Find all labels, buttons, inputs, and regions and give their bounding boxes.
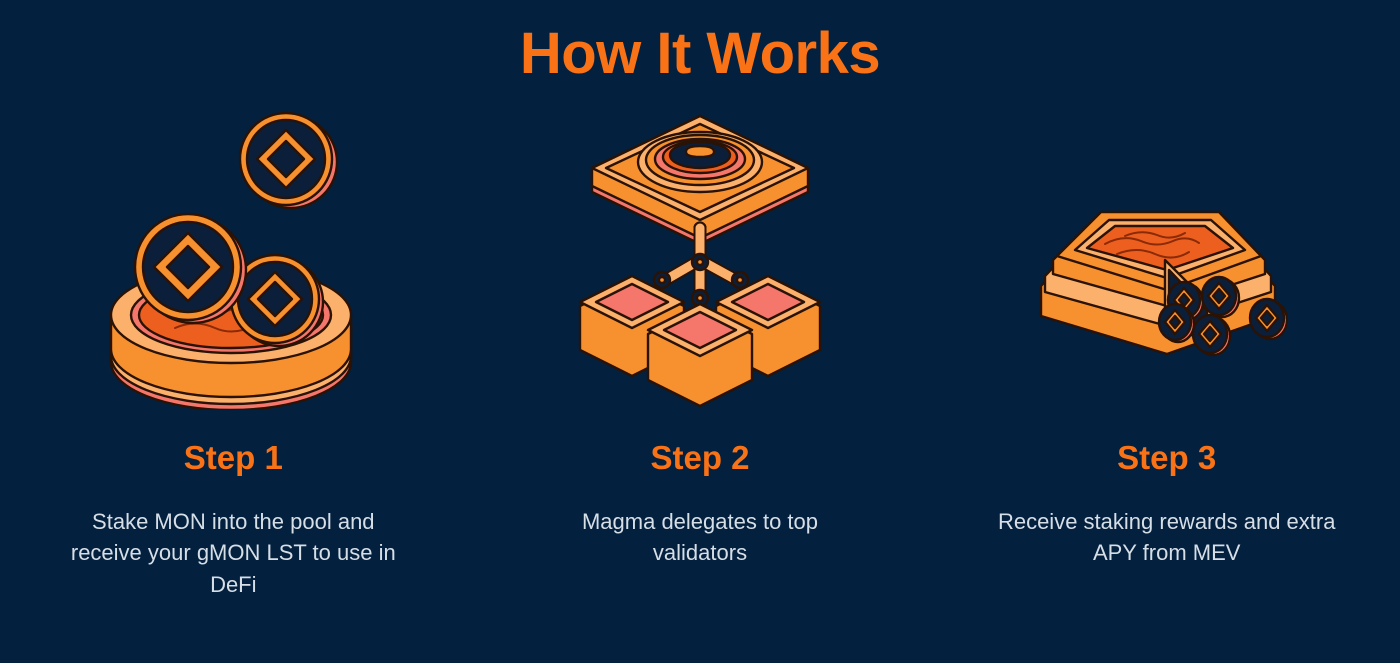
step-1-illustration-wrap	[83, 110, 383, 410]
hub-delegating-to-validator-nodes-icon	[550, 110, 850, 410]
step-2-illustration-wrap	[550, 110, 850, 410]
step-2-description: Magma delegates to top validators	[550, 506, 850, 570]
step-3-heading: Step 3	[1117, 438, 1216, 478]
step-card-1: Step 1 Stake MON into the pool and recei…	[0, 110, 467, 601]
vault-dispensing-reward-coins-icon	[1017, 110, 1317, 410]
step-3-illustration-wrap	[1017, 110, 1317, 410]
steps-row: Step 1 Stake MON into the pool and recei…	[0, 110, 1400, 601]
page-title: How It Works	[0, 22, 1400, 86]
step-card-3: Step 3 Receive staking rewards and extra…	[933, 110, 1400, 569]
step-1-description: Stake MON into the pool and receive your…	[68, 506, 398, 602]
step-2-heading: Step 2	[650, 438, 749, 478]
how-it-works-section: How It Works	[0, 0, 1400, 663]
coins-falling-into-pool-icon	[83, 110, 383, 410]
step-3-description: Receive staking rewards and extra APY fr…	[997, 506, 1337, 570]
step-card-2: Step 2 Magma delegates to top validators	[467, 110, 934, 569]
step-1-heading: Step 1	[184, 438, 283, 478]
